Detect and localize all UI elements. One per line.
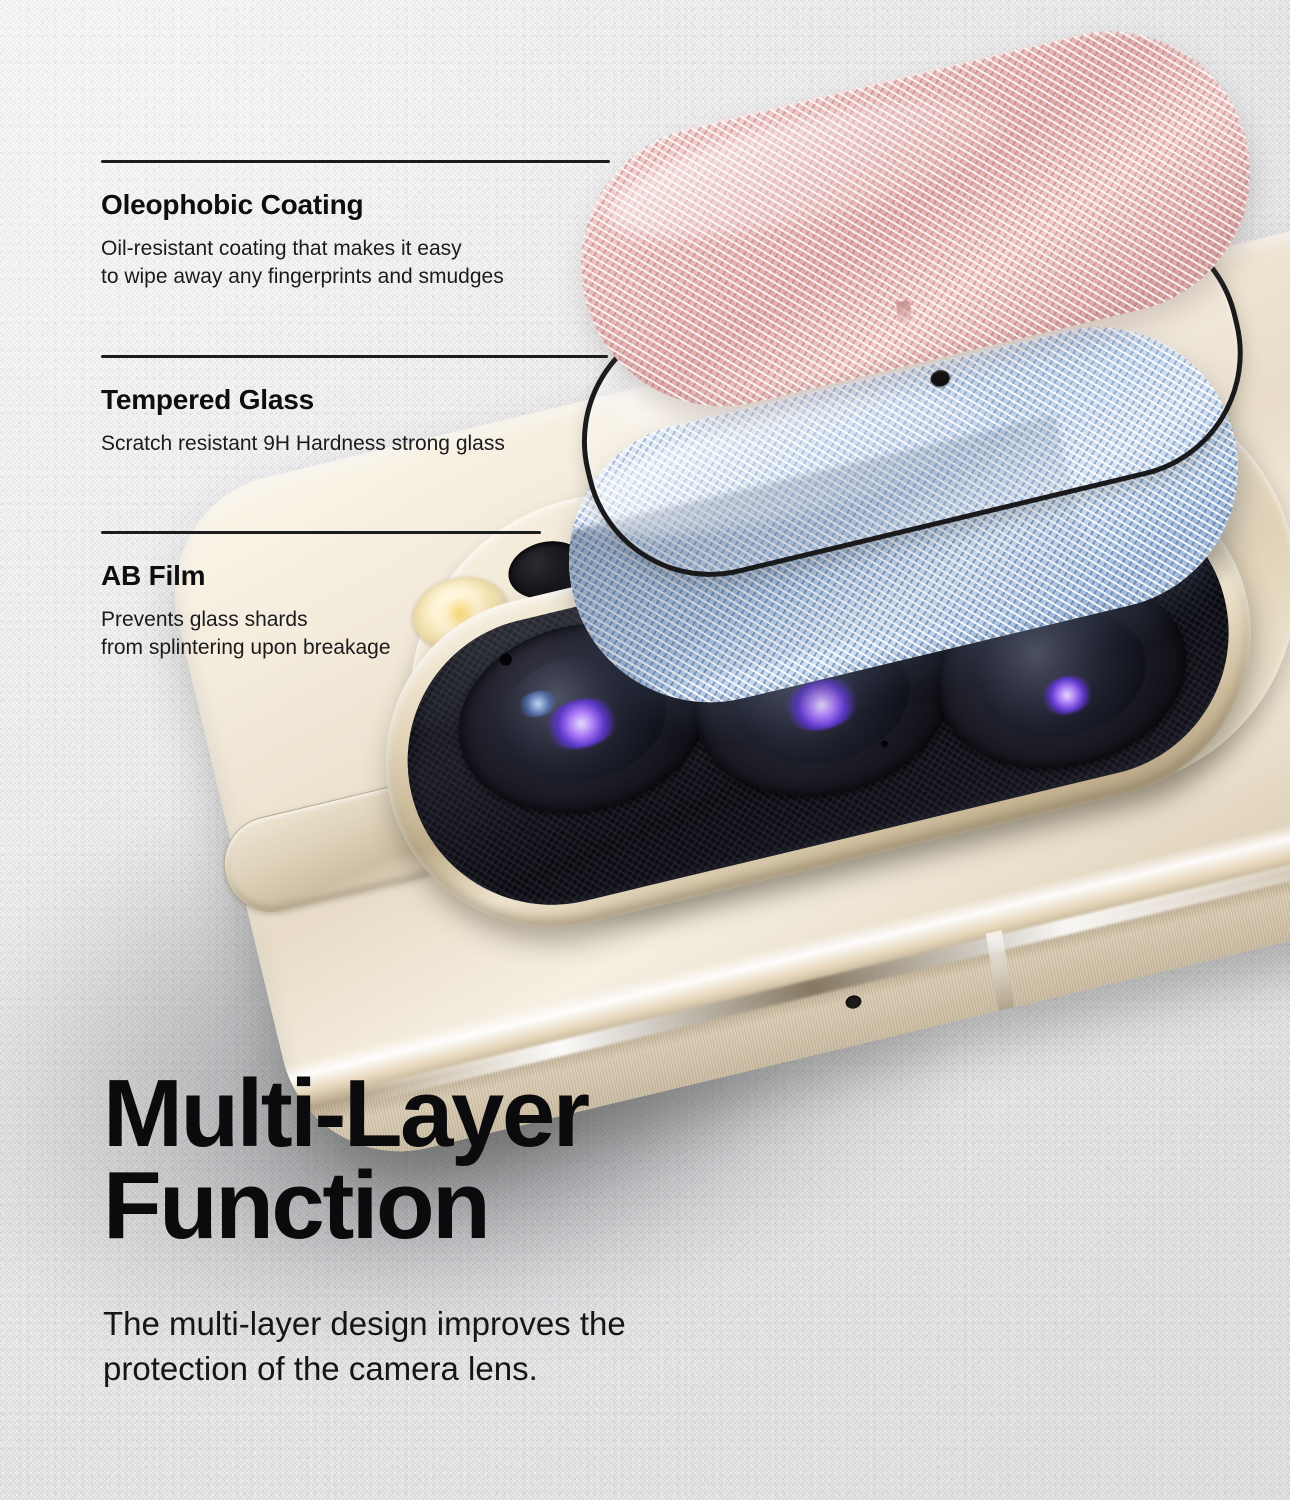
callout-title: AB Film xyxy=(101,560,541,592)
callout-leader-line xyxy=(101,531,541,534)
callout-title: Tempered Glass xyxy=(101,384,608,416)
callout-description: Scratch resistant 9H Hardness strong gla… xyxy=(101,430,608,458)
callout-description: Prevents glass shards from splintering u… xyxy=(101,606,541,661)
callout-leader-line xyxy=(101,355,608,358)
product-illustration-stage: Oleophobic Coating Oil-resistant coating… xyxy=(0,0,1290,1500)
headline-block: Multi-Layer Function The multi-layer des… xyxy=(103,1068,803,1391)
callout-oleophobic-coating: Oleophobic Coating Oil-resistant coating… xyxy=(101,160,610,290)
oleophobic-cutout-notch xyxy=(896,300,912,323)
callout-tempered-glass: Tempered Glass Scratch resistant 9H Hard… xyxy=(101,355,608,458)
callout-ab-film: AB Film Prevents glass shards from splin… xyxy=(101,531,541,661)
callout-title: Oleophobic Coating xyxy=(101,189,610,221)
callout-description: Oil-resistant coating that makes it easy… xyxy=(101,235,610,290)
headline-subtitle: The multi-layer design improves the prot… xyxy=(103,1302,803,1390)
headline-title: Multi-Layer Function xyxy=(103,1068,803,1252)
callout-leader-line xyxy=(101,160,610,163)
